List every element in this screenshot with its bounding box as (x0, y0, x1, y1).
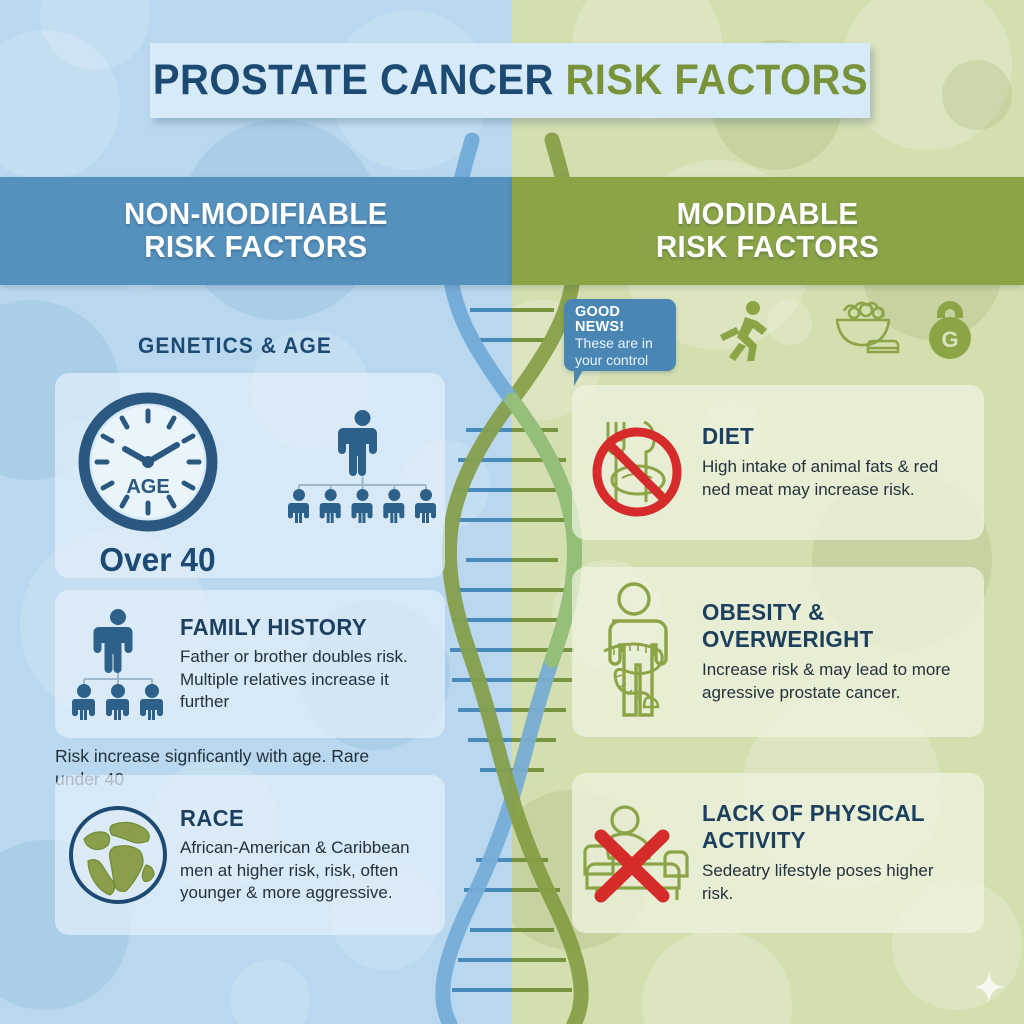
couch-potato-crossed-icon (572, 798, 702, 908)
card-title: RACE (180, 805, 421, 832)
infographic-canvas: PROSTATE CANCER RISK FACTORS NON-MODIFIA… (0, 0, 1024, 1024)
salad-bowl-icon (830, 301, 902, 359)
sparkle-icon (972, 970, 1006, 1004)
good-news-body: These are in your control (575, 335, 667, 368)
card-age: AGE (55, 373, 445, 578)
card-diet: DIET High intake of animal fats & red ne… (572, 385, 984, 540)
page-title-green-part: RISK FACTORS (565, 56, 868, 104)
family-tree-icon (285, 409, 440, 524)
measuring-tape-body-icon (572, 581, 702, 723)
page-title-banner: PROSTATE CANCER RISK FACTORS (150, 43, 870, 118)
page-title-blue-part: PROSTATE CANCER (152, 56, 553, 104)
kettlebell-icon: G (920, 295, 980, 363)
globe-icon (55, 803, 180, 907)
card-race: RACE African-American & Caribbean men at… (55, 775, 445, 935)
modifiable-column: GOOD NEWS! These are in your control (512, 285, 1024, 1024)
clock-icon: AGE (73, 387, 223, 537)
good-news-title: GOOD NEWS! (575, 305, 667, 335)
clock-age-label: AGE (126, 476, 169, 498)
card-body: Father or brother doubles risk. Multiple… (180, 646, 431, 714)
card-body: Sedeatry lifestyle poses higher risk. (702, 860, 968, 905)
card-body: High intake of animal fats & red ned mea… (702, 456, 968, 501)
lifestyle-icon-row: G (712, 295, 1012, 370)
card-lack-of-activity: LACK OF PHYSICAL ACTIVITY Sedeatry lifes… (572, 773, 984, 933)
good-news-callout: GOOD NEWS! These are in your control (564, 299, 676, 371)
card-obesity: OBESITY & OVERWERIGHT Increase risk & ma… (572, 567, 984, 737)
band-left-line1: NON-MODIFIABLE (124, 196, 388, 231)
card-family-history: FAMILY HISTORY Father or brother doubles… (55, 590, 445, 738)
section-header-modifiable: MODIDABLE RISK FACTORS (512, 177, 1024, 285)
band-left-line2: RISK FACTORS (144, 229, 367, 264)
genetics-age-heading: GENETICS & AGE (12, 333, 459, 359)
no-red-meat-icon (572, 408, 702, 518)
section-header-non-modifiable: NON-MODIFIABLE RISK FACTORS (0, 177, 512, 285)
card-body: African-American & Caribbean men at high… (180, 837, 431, 905)
band-right-line1: MODIDABLE (677, 196, 859, 231)
card-title: FAMILY HISTORY (180, 614, 421, 641)
card-title: DIET (702, 423, 955, 450)
running-person-icon (712, 299, 774, 361)
card-title: OBESITY & OVERWERIGHT (702, 599, 955, 653)
kettlebell-mark: G (941, 327, 958, 352)
family-tree-icon (55, 608, 180, 720)
card-title: LACK OF PHYSICAL ACTIVITY (702, 800, 955, 854)
page-title: PROSTATE CANCER RISK FACTORS (152, 59, 867, 102)
age-headline: Over 40 (69, 541, 247, 579)
non-modifiable-column: GENETICS & AGE (0, 285, 512, 1024)
card-body: Increase risk & may lead to more agressi… (702, 659, 968, 704)
band-right-line2: RISK FACTORS (656, 229, 879, 264)
